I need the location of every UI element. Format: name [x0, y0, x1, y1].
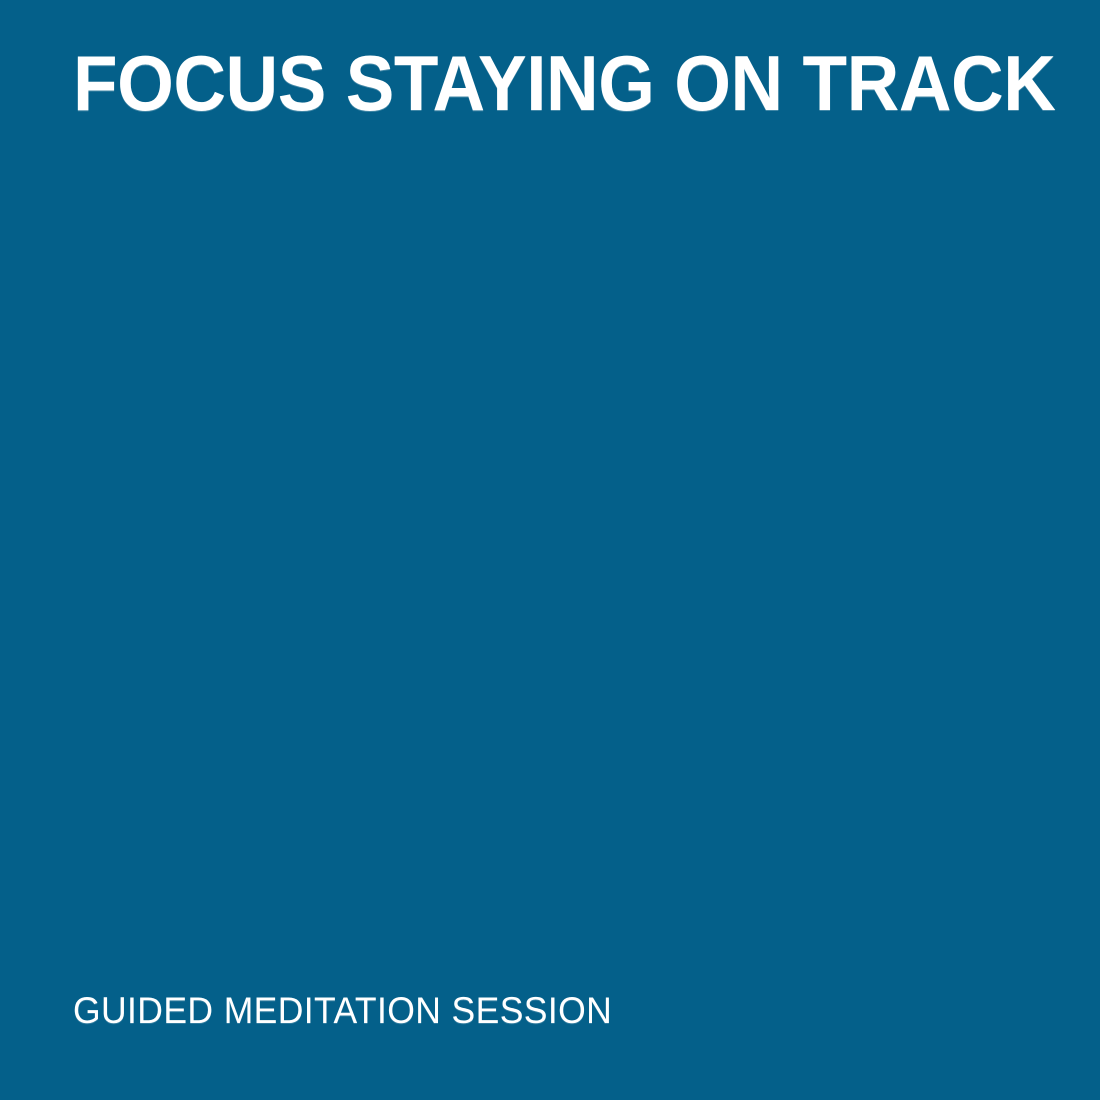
- page-title: FOCUS STAYING ON TRACK: [73, 46, 971, 121]
- poster-card: FOCUS STAYING ON TRACK GUIDED MEDITATION…: [0, 0, 1100, 1100]
- empty-canvas-area: [0, 140, 1100, 980]
- headline-block: FOCUS STAYING ON TRACK: [73, 46, 1033, 121]
- subtitle-text: GUIDED MEDITATION SESSION: [73, 992, 995, 1029]
- footer-block: GUIDED MEDITATION SESSION: [73, 992, 1033, 1029]
